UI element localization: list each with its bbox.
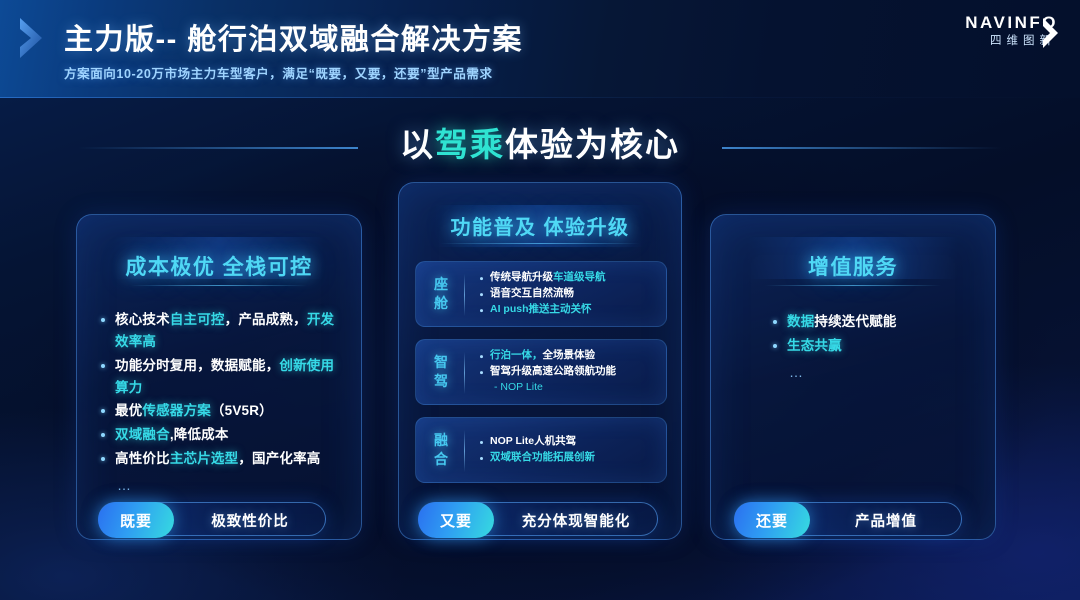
bullet-item: 高性价比主芯片选型，国产化率高 bbox=[99, 448, 345, 470]
center-row-divider bbox=[464, 274, 465, 316]
main-heading-accent: 驾乘 bbox=[435, 126, 505, 163]
text-segment: 主芯片选型 bbox=[170, 451, 239, 466]
text-segment: ,降低成本 bbox=[170, 427, 229, 442]
pill-text-left: 极致性价比 bbox=[175, 503, 325, 537]
text-segment: 自主可控 bbox=[170, 312, 225, 327]
center-row-items: 传统导航升级车道级导航语音交互自然流畅AI push推送主动关怀 bbox=[478, 270, 658, 318]
card-title-right: 增值服务 bbox=[711, 251, 995, 281]
bullet-item: 最优传感器方案（5V5R） bbox=[99, 400, 345, 422]
card-feature-experience[interactable]: 功能普及 体验升级 座舱传统导航升级车道级导航语音交互自然流畅AI push推送… bbox=[398, 182, 682, 540]
main-heading-suffix: 体验为核心 bbox=[505, 126, 680, 163]
text-segment: 车道级导航 bbox=[553, 271, 606, 283]
center-row-item: 行泊一体，全场景体验 bbox=[478, 348, 658, 364]
chevron-right-icon bbox=[14, 14, 48, 62]
center-row[interactable]: 智驾行泊一体，全场景体验智驾升级高速公路领航功能- NOP Lite bbox=[415, 339, 667, 405]
main-heading: 以驾乘体验为核心 bbox=[0, 118, 1080, 166]
text-segment: AI push推送主动关怀 bbox=[490, 303, 592, 315]
bullet-list-right: 数据持续迭代赋能生态共赢… bbox=[771, 311, 979, 383]
text-segment: 传感器方案 bbox=[142, 403, 211, 418]
center-row-item: 智驾升级高速公路领航功能 bbox=[478, 364, 658, 380]
card-cost-optimal[interactable]: 成本极优 全栈可控 核心技术自主可控，产品成熟，开发效率高功能分时复用，数据赋能… bbox=[76, 214, 362, 540]
card-title-underline-center bbox=[440, 243, 640, 244]
bullet-item: 核心技术自主可控，产品成熟，开发效率高 bbox=[99, 309, 345, 353]
center-row-item: 语音交互自然流畅 bbox=[478, 286, 658, 302]
center-row-item: 双域联合功能拓展创新 bbox=[478, 450, 658, 466]
text-segment: 双域融合 bbox=[115, 427, 170, 442]
pill-left[interactable]: 既要 极致性价比 bbox=[98, 502, 326, 536]
bullet-ellipsis: … bbox=[99, 474, 345, 497]
text-segment: （5V5R） bbox=[211, 403, 273, 418]
card-title-underline-left bbox=[131, 285, 307, 286]
text-segment: 最优 bbox=[115, 403, 142, 418]
text-segment: 传统导航升级 bbox=[490, 271, 553, 283]
center-row-items: NOP Lite人机共驾双域联合功能拓展创新 bbox=[478, 434, 658, 466]
main-heading-prefix: 以 bbox=[400, 126, 435, 163]
pill-tag-right: 还要 bbox=[734, 502, 810, 538]
bullet-list-left: 核心技术自主可控，产品成熟，开发效率高功能分时复用，数据赋能，创新使用算力最优传… bbox=[99, 309, 345, 497]
text-segment: 高性价比 bbox=[115, 451, 170, 466]
navinfo-logo: NAVINFO 四维图新 bbox=[965, 14, 1058, 48]
text-segment: 核心技术 bbox=[115, 312, 170, 327]
card-title-left: 成本极优 全栈可控 bbox=[77, 251, 361, 281]
center-row-divider bbox=[464, 352, 465, 394]
text-segment: 双域联合功能拓展创新 bbox=[490, 451, 595, 463]
text-segment: NOP Lite人机共驾 bbox=[490, 435, 576, 447]
page-title: 主力版-- 舱行泊双域融合解决方案 bbox=[64, 16, 523, 58]
center-row[interactable]: 座舱传统导航升级车道级导航语音交互自然流畅AI push推送主动关怀 bbox=[415, 261, 667, 327]
center-row-item: NOP Lite人机共驾 bbox=[478, 434, 658, 450]
center-row-item: 传统导航升级车道级导航 bbox=[478, 270, 658, 286]
bullet-item: 生态共赢 bbox=[771, 335, 979, 357]
center-row[interactable]: 融合NOP Lite人机共驾双域联合功能拓展创新 bbox=[415, 417, 667, 483]
text-segment: 全场景体验 bbox=[543, 349, 596, 361]
pill-right[interactable]: 还要 产品增值 bbox=[734, 502, 962, 536]
bullet-ellipsis: … bbox=[771, 361, 979, 384]
card-title-underline-right bbox=[765, 285, 941, 286]
center-row-item: - NOP Lite bbox=[478, 380, 658, 396]
text-segment: 生态共赢 bbox=[787, 338, 842, 353]
center-row-label: 融合 bbox=[430, 431, 452, 469]
bullet-item: 功能分时复用，数据赋能，创新使用算力 bbox=[99, 355, 345, 399]
logo-chevron-icon bbox=[1040, 16, 1060, 50]
card-value-added-service[interactable]: 增值服务 数据持续迭代赋能生态共赢… bbox=[710, 214, 996, 540]
pill-tag-center: 又要 bbox=[418, 502, 494, 538]
pill-center[interactable]: 又要 充分体现智能化 bbox=[418, 502, 658, 536]
text-segment: 语音交互自然流畅 bbox=[490, 287, 574, 299]
text-segment: 智驾升级高速公路领航功能 bbox=[490, 365, 616, 377]
text-segment: 数据 bbox=[787, 314, 814, 329]
text-segment: 持续迭代赋能 bbox=[814, 314, 896, 329]
center-row-label: 智驾 bbox=[430, 353, 452, 391]
pill-text-center: 充分体现智能化 bbox=[495, 503, 657, 537]
bullet-item: 数据持续迭代赋能 bbox=[771, 311, 979, 333]
text-segment: ，国产化率高 bbox=[238, 451, 320, 466]
center-row-divider bbox=[464, 430, 465, 472]
page-header: 主力版-- 舱行泊双域融合解决方案 方案面向10-20万市场主力车型客户，满足“… bbox=[0, 0, 1080, 98]
pill-tag-left: 既要 bbox=[98, 502, 174, 538]
page-subtitle: 方案面向10-20万市场主力车型客户，满足“既要，又要，还要”型产品需求 bbox=[64, 63, 493, 82]
text-segment: 功能分时复用，数据赋能， bbox=[115, 358, 279, 373]
center-row-label: 座舱 bbox=[430, 275, 452, 313]
center-row-items: 行泊一体，全场景体验智驾升级高速公路领航功能- NOP Lite bbox=[478, 348, 658, 396]
text-segment: ，产品成熟， bbox=[225, 312, 307, 327]
pill-text-right: 产品增值 bbox=[811, 503, 961, 537]
bullet-item: 双域融合,降低成本 bbox=[99, 424, 345, 446]
text-segment: - NOP Lite bbox=[494, 381, 543, 393]
text-segment: 行泊一体， bbox=[490, 349, 543, 361]
center-row-item: AI push推送主动关怀 bbox=[478, 302, 658, 318]
card-title-center: 功能普及 体验升级 bbox=[399, 211, 681, 240]
